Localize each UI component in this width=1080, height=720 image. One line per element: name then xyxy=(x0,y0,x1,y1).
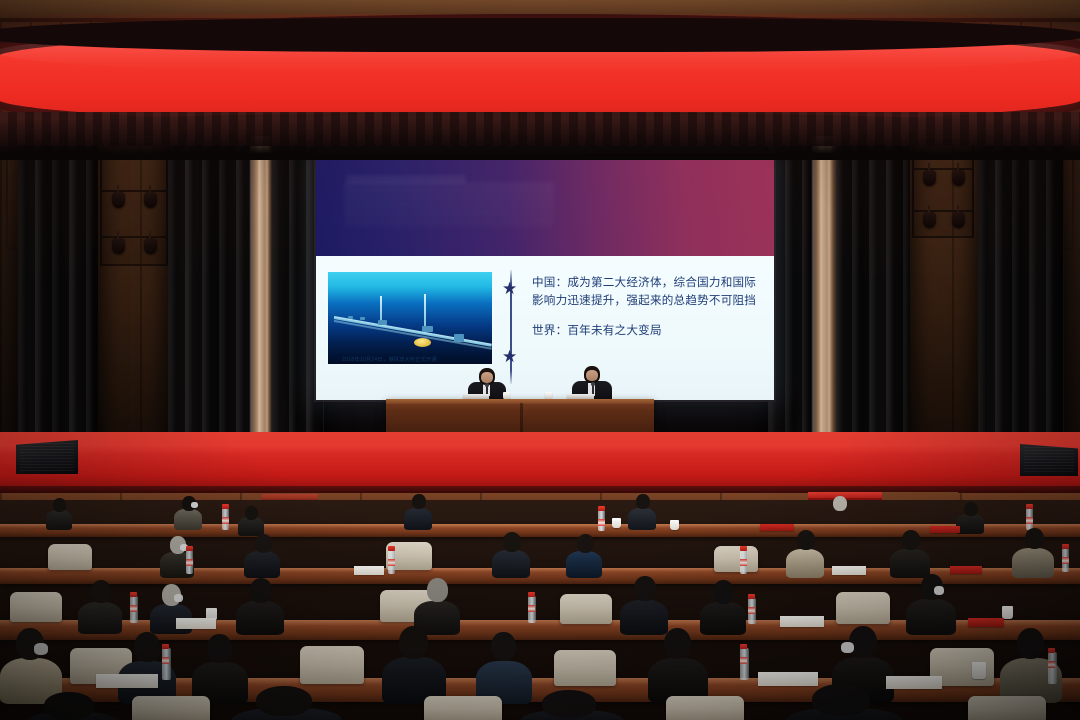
person-head xyxy=(636,494,650,509)
person-torso xyxy=(492,550,530,578)
desk-edge xyxy=(0,524,1080,528)
audience-person xyxy=(956,502,984,532)
monitor-grill xyxy=(20,443,74,471)
person-torso xyxy=(236,601,284,635)
bottle-label xyxy=(1026,517,1033,524)
bottle-label xyxy=(388,559,395,566)
audience-person xyxy=(906,574,956,630)
bottle-cap xyxy=(1062,544,1069,549)
bottle-label xyxy=(162,657,169,664)
person-head xyxy=(91,580,111,603)
person-head xyxy=(902,530,920,550)
monitor-grill xyxy=(1024,447,1074,473)
stage-curtain-far-left xyxy=(18,126,98,464)
stage-light-icon xyxy=(923,212,936,228)
face-mask xyxy=(934,586,944,595)
bottle-label xyxy=(1048,661,1055,668)
audience-chair xyxy=(836,592,890,624)
audience-chair xyxy=(48,544,92,570)
face-mask xyxy=(174,594,183,602)
water-bottle xyxy=(130,596,138,623)
person-head xyxy=(713,580,734,604)
person-head xyxy=(1025,528,1044,549)
stage-monitor-speaker-left xyxy=(16,440,78,474)
water-bottle xyxy=(186,550,193,574)
bottle-label xyxy=(130,605,137,612)
stage-light-icon xyxy=(144,192,157,208)
audience-person xyxy=(786,530,824,574)
person-torso xyxy=(1012,548,1054,578)
led-banner-top-shadow xyxy=(0,18,1080,52)
person-head xyxy=(53,498,66,512)
notebook-paper xyxy=(354,566,384,575)
audience-person xyxy=(648,628,708,698)
bottle-cap xyxy=(186,546,193,551)
curtain-folds xyxy=(768,126,816,464)
audience-person xyxy=(1012,528,1054,574)
bottle-cap xyxy=(222,504,229,509)
audience-person xyxy=(78,580,122,630)
bottle-cap xyxy=(740,644,747,649)
person-head xyxy=(664,628,691,659)
audience-chair xyxy=(300,646,364,684)
speaker-left-face xyxy=(481,372,493,383)
person-torso xyxy=(404,508,432,530)
stage-light-icon xyxy=(112,238,125,254)
bridge-pier xyxy=(422,326,433,332)
audience-person xyxy=(890,530,930,574)
bottle-cap xyxy=(598,506,605,511)
bottle-label xyxy=(740,559,747,566)
audience-person xyxy=(620,576,668,630)
bottle-label xyxy=(748,607,755,614)
bridge-photo: 2018年10月24日，港珠澳大桥正式开通 xyxy=(328,272,492,364)
bridge-pier xyxy=(360,317,365,320)
water-bottle xyxy=(598,510,605,531)
water-bottle xyxy=(528,596,536,623)
audience-person xyxy=(566,534,602,574)
bottle-label xyxy=(740,657,747,664)
stage-light-icon xyxy=(144,238,157,254)
stage-light-icon xyxy=(952,170,965,186)
audience-chair xyxy=(714,546,758,572)
bridge-buoy xyxy=(414,338,431,347)
sheer-curtain-right xyxy=(812,132,836,460)
stage-curtain-mid-right xyxy=(768,126,816,464)
audience-person xyxy=(46,498,72,528)
bridge-tower-far xyxy=(424,294,426,328)
audience-person xyxy=(414,578,460,630)
person-head xyxy=(399,626,428,659)
person-torso xyxy=(78,602,122,634)
person-torso xyxy=(244,551,280,578)
person-head xyxy=(577,534,594,553)
bottle-cap xyxy=(748,594,755,599)
bridge-pier xyxy=(348,316,353,319)
bridge-photo-caption: 2018年10月24日，港珠澳大桥正式开通 xyxy=(342,356,437,363)
water-bottle xyxy=(748,598,756,624)
person-head xyxy=(542,690,596,718)
bottle-cap xyxy=(740,546,747,551)
person-head xyxy=(849,626,877,658)
bottle-cap xyxy=(1026,504,1033,509)
water-bottle xyxy=(1062,548,1069,572)
person-head xyxy=(797,530,815,550)
person-torso xyxy=(956,514,984,534)
bridge-pier xyxy=(378,320,387,325)
audience-person xyxy=(244,534,280,574)
red-folder xyxy=(968,618,1004,627)
bottle-cap xyxy=(388,546,395,551)
person-head xyxy=(427,578,448,602)
audience-person xyxy=(404,494,432,528)
person-torso xyxy=(628,508,656,530)
person-torso xyxy=(566,551,602,578)
face-mask xyxy=(191,502,198,508)
person-head xyxy=(256,686,312,716)
person-head xyxy=(634,576,656,601)
water-bottle xyxy=(1026,508,1033,530)
person-head xyxy=(503,532,521,552)
audience-person xyxy=(700,580,746,630)
curtain-folds xyxy=(18,126,98,464)
person-head xyxy=(245,506,258,520)
audience-person xyxy=(476,632,532,698)
person-head xyxy=(491,632,516,661)
person-head xyxy=(1017,628,1044,659)
bridge-deck-shadow xyxy=(334,320,492,350)
slide-header-band xyxy=(316,152,774,256)
truss-bar-left-lower xyxy=(102,236,166,238)
projection-screen: 2018年10月24日，港珠澳大桥正式开通 ★ ★ 中国：成为第二大经济体，综合… xyxy=(316,152,774,400)
bridge-pier xyxy=(454,334,464,342)
water-bottle xyxy=(222,508,229,530)
audience-person xyxy=(492,532,530,574)
bottle-cap xyxy=(130,592,137,597)
audience-person-foreground xyxy=(520,690,624,720)
bottle-cap xyxy=(1048,648,1055,653)
audience-area xyxy=(0,500,1080,720)
stage-light-icon xyxy=(112,192,125,208)
red-folder xyxy=(950,566,982,574)
water-bottle xyxy=(388,550,395,574)
person-torso xyxy=(786,549,824,578)
notebook-paper xyxy=(176,618,216,629)
person-head xyxy=(964,502,978,516)
person-head xyxy=(833,496,847,511)
bottle-label xyxy=(528,605,535,612)
slide-body: 2018年10月24日，港珠澳大桥正式开通 ★ ★ 中国：成为第二大经济体，综合… xyxy=(316,256,774,400)
audience-chair xyxy=(132,696,210,720)
audience-person xyxy=(382,626,446,698)
paper-cup xyxy=(612,518,621,528)
person-head xyxy=(134,632,160,662)
red-folder xyxy=(930,526,960,533)
audience-person-foreground xyxy=(232,686,342,720)
person-head xyxy=(412,494,426,509)
stage-curtain-far-right xyxy=(978,126,1064,464)
audience-chair xyxy=(554,650,616,686)
audience-chair xyxy=(666,696,744,720)
audience-person xyxy=(0,628,62,698)
slide-bullet-text-2: 世界：百年未有之大变局 xyxy=(532,322,764,340)
bottle-label xyxy=(186,559,193,566)
bottle-cap xyxy=(528,592,535,597)
person-torso xyxy=(824,509,854,530)
lighting-truss-left xyxy=(100,156,168,266)
slide-text-block: 中国：成为第二大经济体，综合国力和国际影响力迅速提升，强起来的总趋势不可阻挡 世… xyxy=(532,274,764,340)
person-torso xyxy=(174,509,202,530)
audience-person xyxy=(824,496,854,528)
audience-person-foreground xyxy=(24,692,120,720)
bottle-cap xyxy=(162,644,169,649)
paper-cup xyxy=(670,520,679,530)
notebook-paper xyxy=(780,616,824,627)
slide-header-ghost-block xyxy=(344,182,554,228)
water-bottle xyxy=(740,648,749,680)
notebook-paper xyxy=(96,674,158,688)
person-head xyxy=(44,692,94,720)
sheer-curtain-left xyxy=(250,132,272,460)
audience-person xyxy=(238,506,264,534)
face-mask xyxy=(34,643,48,655)
speaker-right-face xyxy=(586,370,598,381)
bottle-label xyxy=(1062,557,1069,564)
audience-person xyxy=(236,578,284,630)
audience-person xyxy=(628,494,656,528)
bottle-label xyxy=(598,519,605,526)
stage-carpet-highlight xyxy=(0,432,1080,454)
audience-chair xyxy=(968,696,1046,720)
audience-person-foreground xyxy=(786,684,902,720)
audience-chair xyxy=(10,592,62,622)
paper-cup xyxy=(972,662,986,679)
water-bottle xyxy=(740,550,747,574)
bridge-tower-near xyxy=(380,296,382,322)
truss-bar-left-upper xyxy=(102,190,166,192)
face-mask xyxy=(841,642,854,653)
audience-person xyxy=(174,496,202,528)
person-head xyxy=(250,578,272,603)
conference-hall-scene: 2018年10月24日，港珠澳大桥正式开通 ★ ★ 中国：成为第二大经济体，综合… xyxy=(0,0,1080,720)
bottle-label xyxy=(222,517,229,524)
curtain-folds xyxy=(978,126,1064,464)
person-head xyxy=(812,684,870,716)
slide-bullet-text-1: 中国：成为第二大经济体，综合国力和国际影响力迅速提升，强起来的总趋势不可阻挡 xyxy=(532,274,764,309)
person-head xyxy=(255,534,272,553)
stage-monitor-speaker-right xyxy=(1020,444,1078,476)
audience-chair xyxy=(424,696,502,720)
person-torso xyxy=(46,510,72,530)
person-torso xyxy=(906,599,956,635)
audience-chair xyxy=(560,594,612,624)
bridge-deck-main xyxy=(334,316,492,347)
notebook-paper xyxy=(832,566,866,575)
person-head xyxy=(207,634,232,663)
stage-light-icon xyxy=(923,170,936,186)
water-bottle xyxy=(162,648,171,680)
sheer-folds xyxy=(250,132,272,460)
stage-light-icon xyxy=(952,212,965,228)
sheer-folds xyxy=(812,132,836,460)
water-bottle xyxy=(1048,652,1057,684)
stage-valance-fade xyxy=(0,118,1080,160)
